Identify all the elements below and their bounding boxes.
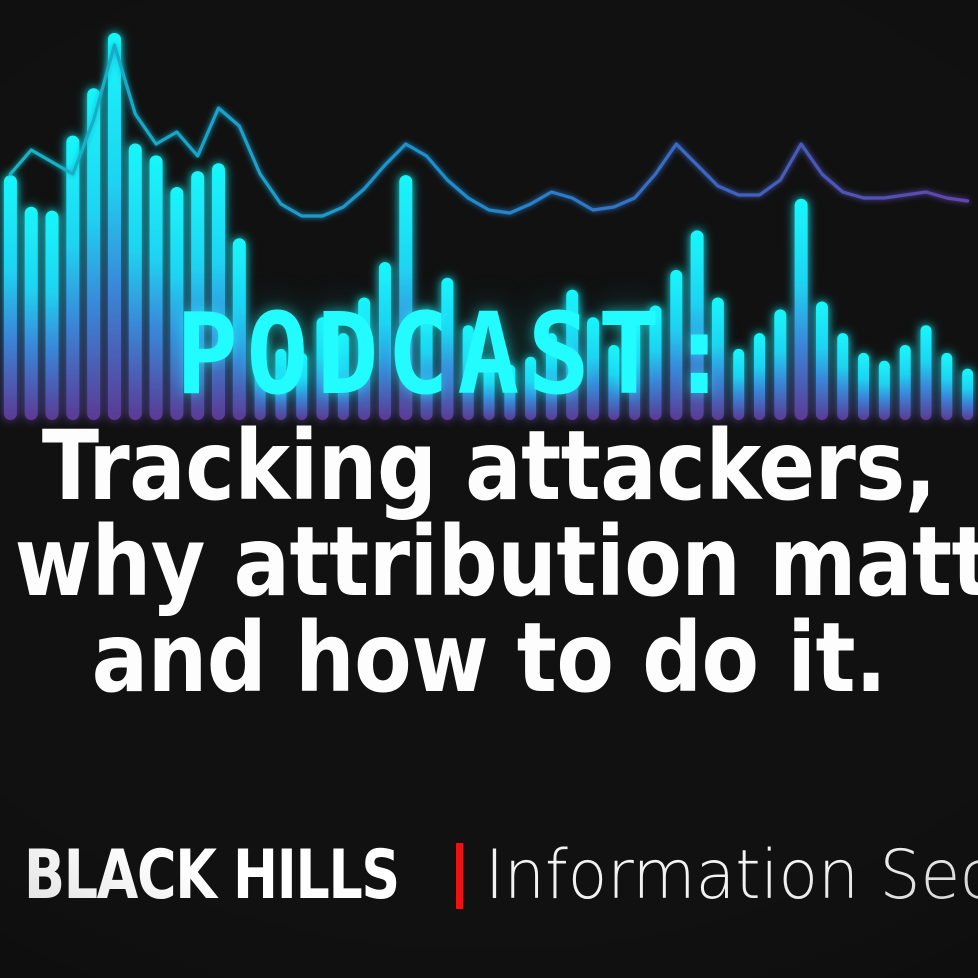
- waveform-bar: [25, 207, 38, 420]
- kicker-podcast-label: PODCAST:: [176, 296, 930, 414]
- brand-lockup: BLACK HILLS Information Security: [0, 836, 978, 916]
- brand-subtitle: Information Security: [485, 841, 978, 911]
- brand-wordmark: BLACK HILLS: [24, 842, 399, 910]
- waveform-bar: [66, 136, 79, 420]
- podcast-promo-poster: PODCAST: Tracking attackers, why attribu…: [0, 0, 978, 978]
- headline-line-3: and how to do it.: [15, 610, 964, 706]
- waveform-bar: [108, 33, 121, 420]
- page-title: Tracking attackers, why attribution matt…: [0, 418, 978, 706]
- waveform-bar: [941, 353, 952, 420]
- waveform-bar: [46, 211, 59, 420]
- headline-line-2: why attribution matters,: [15, 514, 964, 610]
- waveform-bar: [4, 175, 17, 420]
- waveform-bar: [129, 144, 142, 421]
- waveform-bar: [87, 88, 100, 420]
- waveform-bar: [150, 155, 163, 420]
- headline-line-1: Tracking attackers,: [15, 418, 964, 514]
- waveform-bar: [962, 369, 973, 420]
- brand-divider-rule: [456, 843, 463, 909]
